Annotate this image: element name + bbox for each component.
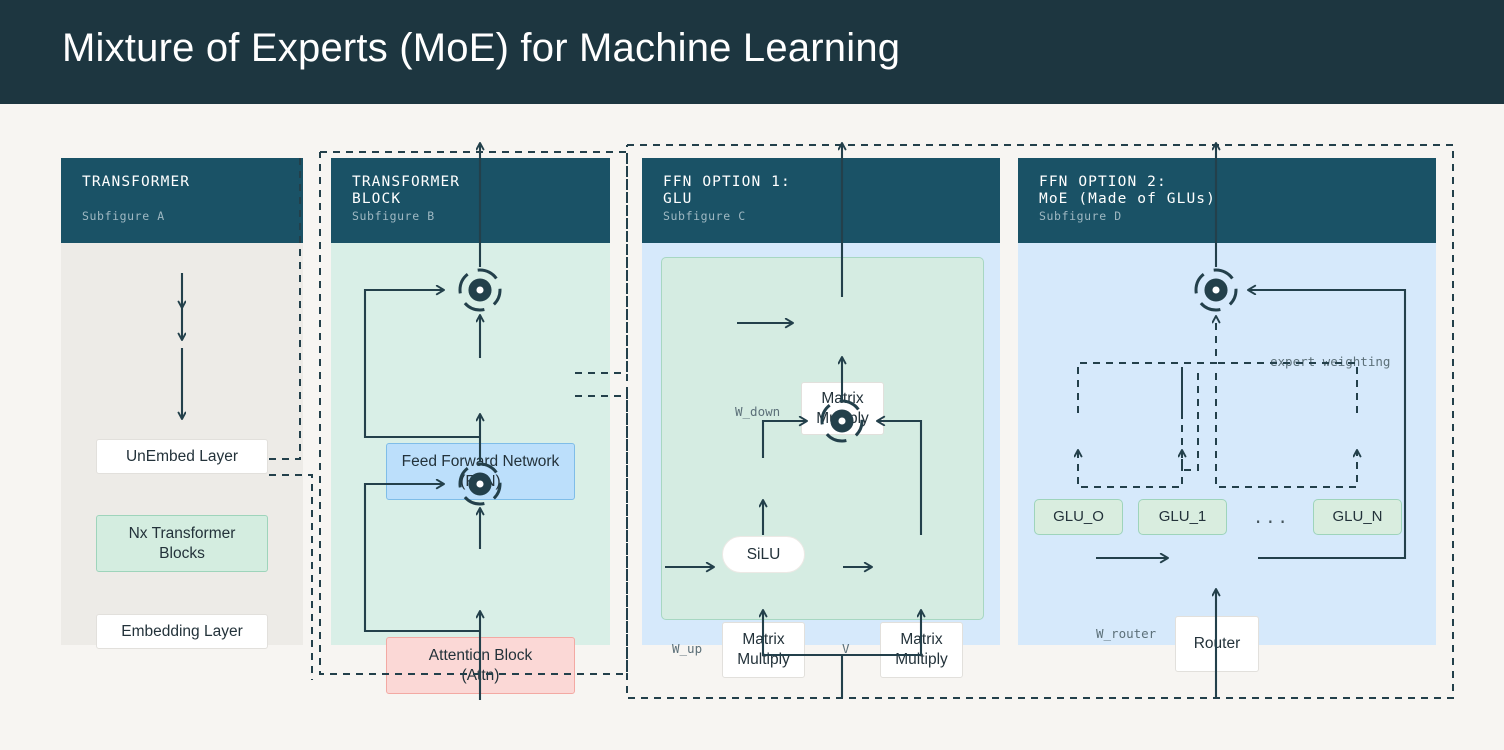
panel-ffn-option-1-glu: FFN OPTION 1: GLU Subfigure C Matrix Mul… [642, 158, 1000, 645]
expert-ellipsis-label: ... [1253, 508, 1290, 528]
page-header: Mixture of Experts (MoE) for Machine Lea… [0, 0, 1504, 104]
expert-glu-n-node[interactable]: GLU_N [1313, 499, 1402, 535]
nx-transformer-blocks-label: Nx Transformer Blocks [129, 524, 236, 564]
panel-transformer-block: TRANSFORMER BLOCK Subfigure B Feed Forwa… [331, 158, 610, 645]
panel-c-subtitle: Subfigure C [663, 209, 746, 223]
panel-c-header: FFN OPTION 1: GLU Subfigure C [642, 158, 1000, 243]
panel-a-header: TRANSFORMER Subfigure A [61, 158, 303, 243]
expert-glu-n-label: GLU_N [1332, 507, 1382, 527]
matrix-multiply-down-label: Matrix Multiply [816, 389, 869, 429]
silu-activation-node[interactable]: SiLU [722, 536, 805, 573]
page-title: Mixture of Experts (MoE) for Machine Lea… [62, 26, 900, 71]
panel-d-body: GLU_O GLU_1 ... GLU_N Router W_router ex… [1018, 243, 1436, 645]
panel-c-body: Matrix Multiply SiLU Matrix Multiply Mat… [642, 243, 1000, 645]
feed-forward-network-node[interactable]: Feed Forward Network (FFN) [386, 443, 575, 500]
panel-a-body: UnEmbed Layer Nx Transformer Blocks Embe… [61, 243, 303, 645]
expert-glu-0-node[interactable]: GLU_O [1034, 499, 1123, 535]
matrix-multiply-v-label: Matrix Multiply [895, 630, 948, 670]
router-node[interactable]: Router [1175, 616, 1259, 672]
panel-a-title: TRANSFORMER [82, 174, 190, 191]
panel-ffn-option-2-moe: FFN OPTION 2: MoE (Made of GLUs) Subfigu… [1018, 158, 1436, 645]
panel-c-title: FFN OPTION 1: GLU [663, 174, 791, 208]
nx-transformer-blocks-node[interactable]: Nx Transformer Blocks [96, 515, 268, 572]
panel-d-title: FFN OPTION 2: MoE (Made of GLUs) [1039, 174, 1216, 208]
matrix-multiply-down-node[interactable]: Matrix Multiply [801, 382, 884, 435]
panel-a-subtitle: Subfigure A [82, 209, 165, 223]
expert-glu-1-label: GLU_1 [1159, 507, 1207, 527]
w-router-label: W_router [1096, 626, 1156, 641]
panel-d-header: FFN OPTION 2: MoE (Made of GLUs) Subfigu… [1018, 158, 1436, 243]
attention-block-node[interactable]: Attention Block (Attn) [386, 637, 575, 694]
w-up-label: W_up [672, 641, 702, 656]
embedding-layer-node[interactable]: Embedding Layer [96, 614, 268, 649]
panel-b-title: TRANSFORMER BLOCK [352, 174, 460, 208]
embedding-layer-label: Embedding Layer [121, 622, 243, 642]
router-label: Router [1194, 634, 1241, 654]
expert-glu-1-node[interactable]: GLU_1 [1138, 499, 1227, 535]
unembed-layer-label: UnEmbed Layer [126, 447, 238, 467]
matrix-multiply-up-label: Matrix Multiply [737, 630, 790, 670]
expert-weighting-label: expert weighting [1270, 354, 1390, 369]
panel-d-subtitle: Subfigure D [1039, 209, 1122, 223]
panel-b-subtitle: Subfigure B [352, 209, 435, 223]
matrix-multiply-up-node[interactable]: Matrix Multiply [722, 622, 805, 678]
w-down-label: W_down [735, 404, 780, 419]
unembed-layer-node[interactable]: UnEmbed Layer [96, 439, 268, 474]
attention-block-label: Attention Block (Attn) [429, 646, 532, 686]
matrix-multiply-v-node[interactable]: Matrix Multiply [880, 622, 963, 678]
expert-glu-0-label: GLU_O [1053, 507, 1104, 527]
panel-b-body: Feed Forward Network (FFN) Attention Blo… [331, 243, 610, 645]
panel-transformer: TRANSFORMER Subfigure A UnEmbed Layer Nx… [61, 158, 303, 645]
diagram-root: Mixture of Experts (MoE) for Machine Lea… [0, 0, 1504, 750]
panel-b-header: TRANSFORMER BLOCK Subfigure B [331, 158, 610, 243]
glu-inner-container [661, 257, 984, 620]
feed-forward-network-label: Feed Forward Network (FFN) [402, 452, 560, 492]
silu-activation-label: SiLU [747, 545, 781, 565]
v-label: V [842, 641, 850, 656]
